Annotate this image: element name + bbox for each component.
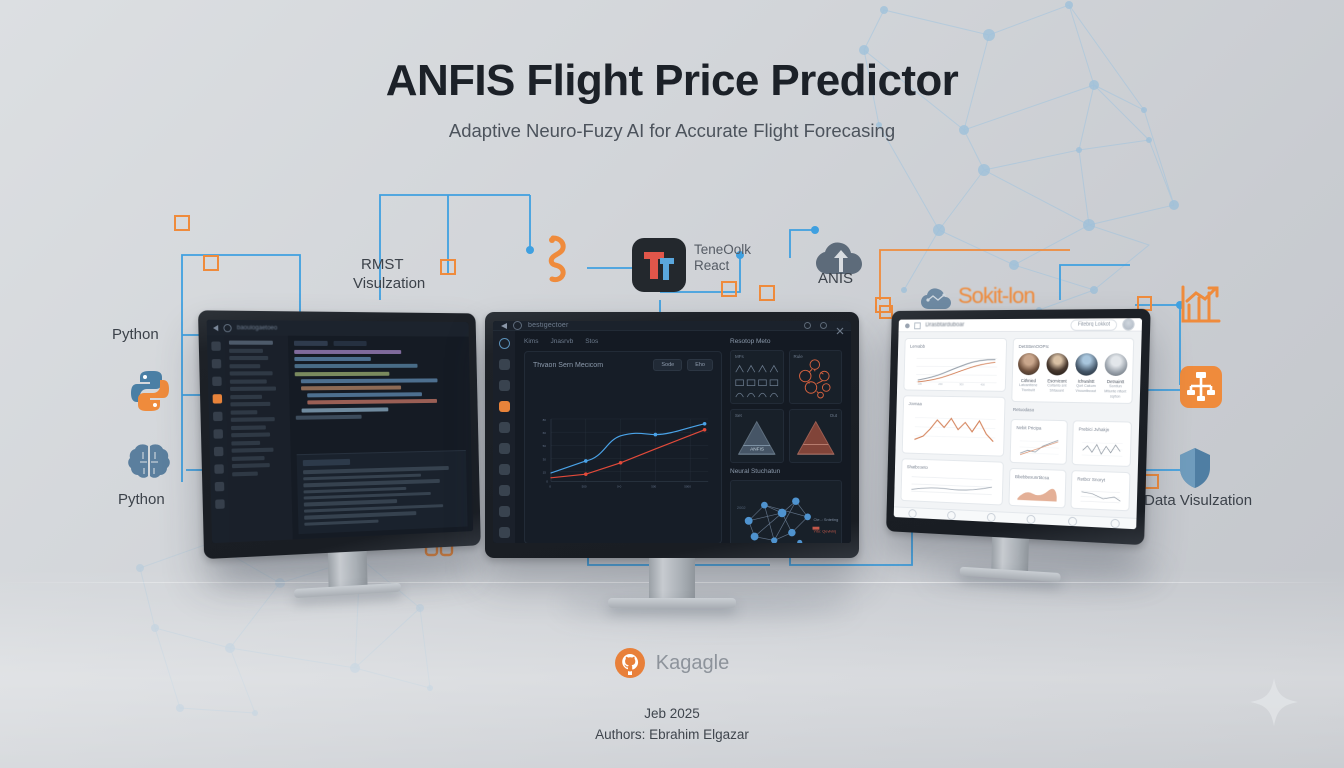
python-logo-icon: [128, 368, 172, 414]
neural-network-card: Cte..: Snteting Yito: Qevivinj 2002 0001: [730, 480, 842, 543]
tech-label-tensorflow: TeneOolk: [694, 242, 751, 257]
snake-icon: [533, 233, 575, 283]
tech-label-python-bottom: Python: [118, 491, 165, 508]
analytics-titlebar: Drasbtarduboar Fitebrq Lokkot: [899, 318, 1143, 332]
card-label: Set: [735, 413, 742, 418]
svg-text:0-0: 0-0: [617, 484, 622, 488]
poster-canvas: ANFIS Flight Price Predictor Adaptive Ne…: [0, 0, 1344, 768]
tree-item[interactable]: [229, 348, 263, 352]
table-icon[interactable]: [499, 380, 510, 391]
home-icon[interactable]: [499, 338, 510, 349]
tech-label-anis: ANIS: [818, 270, 853, 287]
svg-text:50: 50: [543, 444, 547, 448]
avatar[interactable]: [1018, 353, 1040, 375]
svg-text:60: 60: [543, 431, 547, 435]
run-debug-icon[interactable]: [213, 394, 223, 403]
page-title: ANFIS Flight Price Predictor: [0, 56, 1344, 106]
bar-chart-icon: [1178, 283, 1224, 327]
svg-text:ANFIS: ANFIS: [750, 446, 764, 452]
network-card-title: Neural Stuchatun: [730, 468, 842, 475]
maximize-button[interactable]: [820, 322, 827, 329]
breadcrumb-item[interactable]: Jnasrvb: [550, 338, 573, 345]
code-line: [301, 385, 401, 390]
card-label: Lervabb: [910, 344, 1001, 349]
tree-item[interactable]: [231, 410, 258, 414]
breadcrumb-item[interactable]: Stos: [585, 338, 598, 345]
code-line: [301, 378, 437, 383]
brain-icon: [126, 440, 172, 484]
card-label: DetSttenOOPIc: [1019, 344, 1128, 349]
svg-text:30: 30: [543, 457, 547, 461]
anfis-dashboard-window[interactable]: bestigectoer: [493, 321, 851, 543]
svg-text:15: 15: [543, 471, 547, 475]
filter-pill[interactable]: Fitebrq Lokkot: [1071, 319, 1118, 330]
svg-text:0: 0: [549, 484, 551, 488]
chart-button-export[interactable]: Eho: [687, 359, 713, 371]
app-icon: [513, 321, 522, 330]
menu-dot-icon[interactable]: [905, 323, 910, 328]
right-panel-title: Resotop Meto: [730, 338, 842, 345]
code-line: [302, 407, 388, 412]
remote-icon[interactable]: [214, 464, 224, 474]
svg-text:400: 400: [980, 382, 985, 386]
avatar[interactable]: [1075, 353, 1098, 376]
network-pattern-decoration: [844, 0, 1344, 320]
terminal-title: [303, 459, 350, 466]
fuzzy-triangle-blue-card: Set ANFIS: [730, 409, 784, 463]
results-section-title: Retuodaso: [1011, 407, 1132, 414]
code-line: [307, 392, 421, 397]
tech-label-rmst-line2: Visulzation: [353, 275, 425, 292]
rule-graph-card: Rule: [789, 350, 843, 404]
line-chart: 806050 30150 05000-0 5005000: [533, 371, 713, 537]
card-label: MFs: [735, 354, 744, 359]
avatar[interactable]: [1122, 318, 1135, 330]
tree-item[interactable]: [229, 364, 260, 368]
dashboard-sidebar[interactable]: [493, 331, 515, 543]
training-chart-card: Thvaon Sern Mecicom Sode Eho: [524, 351, 722, 543]
code-line: [295, 371, 390, 375]
tree-item[interactable]: [231, 432, 270, 437]
member-role: Latcanttene Ttonbulit: [1017, 383, 1039, 393]
card-label: Out: [830, 413, 837, 418]
account-icon[interactable]: [215, 482, 225, 492]
explorer-icon[interactable]: [211, 341, 221, 350]
table-card: Shatbcoeto: [901, 458, 1004, 505]
chart-title: Thvaon Sern Mecicom: [533, 362, 603, 369]
tree-item[interactable]: [231, 425, 266, 430]
tech-label-rmst-line1: RMST: [361, 256, 404, 273]
poster-footer: Kagagle Jeb 2025 Authors: Ebrahim Elgaza…: [0, 648, 1344, 746]
breadcrumb[interactable]: Kims Jnasrvb Stos: [524, 338, 722, 345]
tech-label-react: React: [694, 258, 729, 273]
tree-item[interactable]: [230, 402, 270, 407]
center-monitor: bestigectoer: [485, 312, 859, 608]
svg-text:Cte..: Snteting: Cte..: Snteting: [814, 517, 839, 522]
tree-item[interactable]: [230, 394, 262, 398]
page-subtitle: Adaptive Neuro-Fuzy AI for Accurate Flig…: [0, 120, 1344, 142]
code-area[interactable]: [288, 336, 473, 540]
right-monitor: Drasbtarduboar Fitebrq Lokkot Lervabb: [885, 309, 1151, 588]
team-member[interactable]: Detnaintt Sontlun Mtiunte nfiont sqrton: [1104, 353, 1128, 399]
poster-header: ANFIS Flight Price Predictor Adaptive Ne…: [0, 56, 1344, 142]
nav-icon-settings[interactable]: [1110, 518, 1119, 528]
app-icon: [223, 323, 231, 331]
card-label: Jovnaa: [908, 401, 999, 408]
tech-label-data-visualization: Data Visulzation: [1144, 492, 1252, 509]
tree-item[interactable]: [230, 371, 273, 375]
result-card: Bbebbexunrtitcsa: [1008, 468, 1066, 509]
editor-titlebar: baoulogaetoeo: [207, 320, 469, 337]
minimize-button[interactable]: [804, 322, 811, 329]
left-monitor: baoulogaetoeo: [198, 310, 482, 603]
footer-authors: Authors: Ebrahim Elgazar: [0, 725, 1344, 746]
settings-gear-icon[interactable]: [215, 499, 225, 509]
nav-icon-home[interactable]: [909, 509, 917, 518]
search-icon[interactable]: [212, 359, 222, 368]
editor-tab[interactable]: [294, 341, 328, 346]
tree-item[interactable]: [232, 448, 273, 453]
tree-item[interactable]: [231, 440, 260, 445]
dashboard-titlebar: bestigectoer: [493, 321, 851, 331]
team-card: DetSttenOOPIc Cithnied Latcanttene Ttonb…: [1011, 338, 1134, 404]
result-card: Retbcr Snoryt: [1070, 470, 1130, 511]
team-list: Cithnied Latcanttene Ttonbulit Escmicont…: [1017, 353, 1127, 399]
result-card: Prebici Jvhakjn: [1072, 420, 1132, 467]
nav-icon-models[interactable]: [1027, 514, 1036, 523]
svg-text:200: 200: [938, 382, 943, 386]
analytics-title: Drasbtarduboar: [925, 322, 964, 328]
nav-icon-reports[interactable]: [947, 510, 956, 519]
grid-icon[interactable]: [914, 322, 921, 329]
tree-item[interactable]: [232, 471, 258, 476]
brand-row: Kagagle: [0, 648, 1344, 678]
scikit-learn-cloud-icon: [918, 284, 956, 312]
nav-icon-alerts[interactable]: [1068, 516, 1077, 526]
monitor-stand-neck: [328, 551, 368, 587]
shield-icon: [1176, 446, 1214, 490]
tree-item[interactable]: [229, 341, 273, 345]
tree-item[interactable]: [229, 356, 268, 360]
file-explorer-tree[interactable]: [225, 335, 293, 542]
avatar[interactable]: [1104, 353, 1127, 376]
code-line: [295, 364, 418, 368]
svg-text:5000: 5000: [684, 484, 691, 488]
tree-item[interactable]: [232, 463, 270, 468]
team-member[interactable]: Ichwalntt Qort Cakum Vnountbcout: [1074, 353, 1097, 399]
chart-button-mode[interactable]: Sode: [653, 359, 682, 371]
card-label: Rule: [794, 354, 803, 359]
card-label: Bbebbexunrtitcsa: [1015, 474, 1060, 481]
svg-text:500: 500: [651, 484, 656, 488]
decision-tree-icon: [1180, 366, 1222, 408]
back-arrow-icon[interactable]: [213, 324, 218, 330]
editor-tab[interactable]: [334, 341, 367, 346]
member-role: Coltanto snt Shtauunt: [1046, 383, 1068, 393]
result-card: Nebit Pricipa: [1010, 419, 1068, 465]
team-member[interactable]: Cithnied Latcanttene Ttonbulit: [1017, 353, 1040, 398]
monitor-stand-base: [608, 598, 736, 608]
svg-text:300: 300: [959, 382, 964, 386]
settings-gear-icon[interactable]: [499, 527, 510, 538]
svg-text:100: 100: [918, 382, 923, 386]
layers-icon[interactable]: [499, 443, 510, 454]
trend-chart-card: Jovnaa: [902, 395, 1006, 456]
card-label: Nebit Pricipa: [1016, 425, 1061, 431]
code-line: [294, 350, 401, 354]
card-label: Retbcr Snoryt: [1077, 476, 1124, 483]
tech-label-python-top: Python: [112, 326, 159, 343]
svg-text:80: 80: [543, 418, 547, 422]
analytics-dashboard-window[interactable]: Drasbtarduboar Fitebrq Lokkot Lervabb: [894, 318, 1142, 529]
overview-chart-card: Lervabb 100200300400: [903, 338, 1007, 392]
tree-item[interactable]: [232, 456, 265, 461]
data-icon[interactable]: [499, 359, 510, 370]
breadcrumb-item[interactable]: Kims: [524, 338, 538, 345]
brand-name: Kagagle: [656, 652, 729, 675]
code-editor-window[interactable]: baoulogaetoeo: [207, 320, 474, 543]
extensions-icon[interactable]: [213, 412, 223, 421]
nav-icon-data[interactable]: [986, 512, 995, 521]
svg-text:500: 500: [582, 484, 587, 488]
export-icon[interactable]: [499, 506, 510, 517]
monitor-stand-neck: [649, 558, 695, 598]
member-role: Qort Cakum Vnountbcout: [1075, 384, 1097, 394]
model-icon[interactable]: [499, 401, 510, 412]
avatar[interactable]: [1046, 353, 1068, 375]
footer-date: Jeb 2025: [0, 704, 1344, 725]
team-member[interactable]: Escmicont Coltanto snt Shtauunt: [1046, 353, 1069, 398]
editor-title: baoulogaetoeo: [237, 325, 278, 331]
back-arrow-icon[interactable]: [501, 323, 507, 329]
svg-text:2002: 2002: [737, 505, 746, 510]
chart-icon[interactable]: [499, 464, 510, 475]
svg-text:0: 0: [546, 480, 548, 484]
tree-item[interactable]: [231, 417, 275, 422]
code-line: [296, 414, 362, 419]
scm-icon[interactable]: [212, 377, 222, 386]
monitor-stand-neck: [991, 537, 1029, 571]
code-line: [294, 357, 370, 361]
card-label: Prebici Jvhakjn: [1079, 427, 1126, 433]
docker-icon[interactable]: [214, 447, 224, 457]
member-role: Sontlun Mtiunte nfiont sqrton: [1104, 384, 1127, 399]
close-button[interactable]: [836, 322, 843, 329]
tree-item[interactable]: [230, 379, 267, 383]
tensorflow-logo-icon: [632, 238, 686, 292]
fuzzy-triangle-red-card: Out: [789, 409, 843, 463]
terminal-panel[interactable]: [297, 450, 468, 534]
dashboard-title: bestigectoer: [528, 322, 569, 329]
code-line: [307, 399, 436, 405]
sparkle-icon: [1248, 676, 1300, 728]
tune-icon[interactable]: [499, 422, 510, 433]
testing-icon[interactable]: [213, 429, 223, 438]
tree-item[interactable]: [230, 387, 276, 391]
window-controls[interactable]: [804, 322, 843, 329]
tech-label-sklearn: Sokit-lon: [958, 283, 1035, 309]
editor-tabs[interactable]: [294, 341, 463, 346]
github-cat-icon: [615, 648, 645, 678]
graph-icon[interactable]: [499, 485, 510, 496]
membership-functions-card: MFs: [730, 350, 784, 404]
